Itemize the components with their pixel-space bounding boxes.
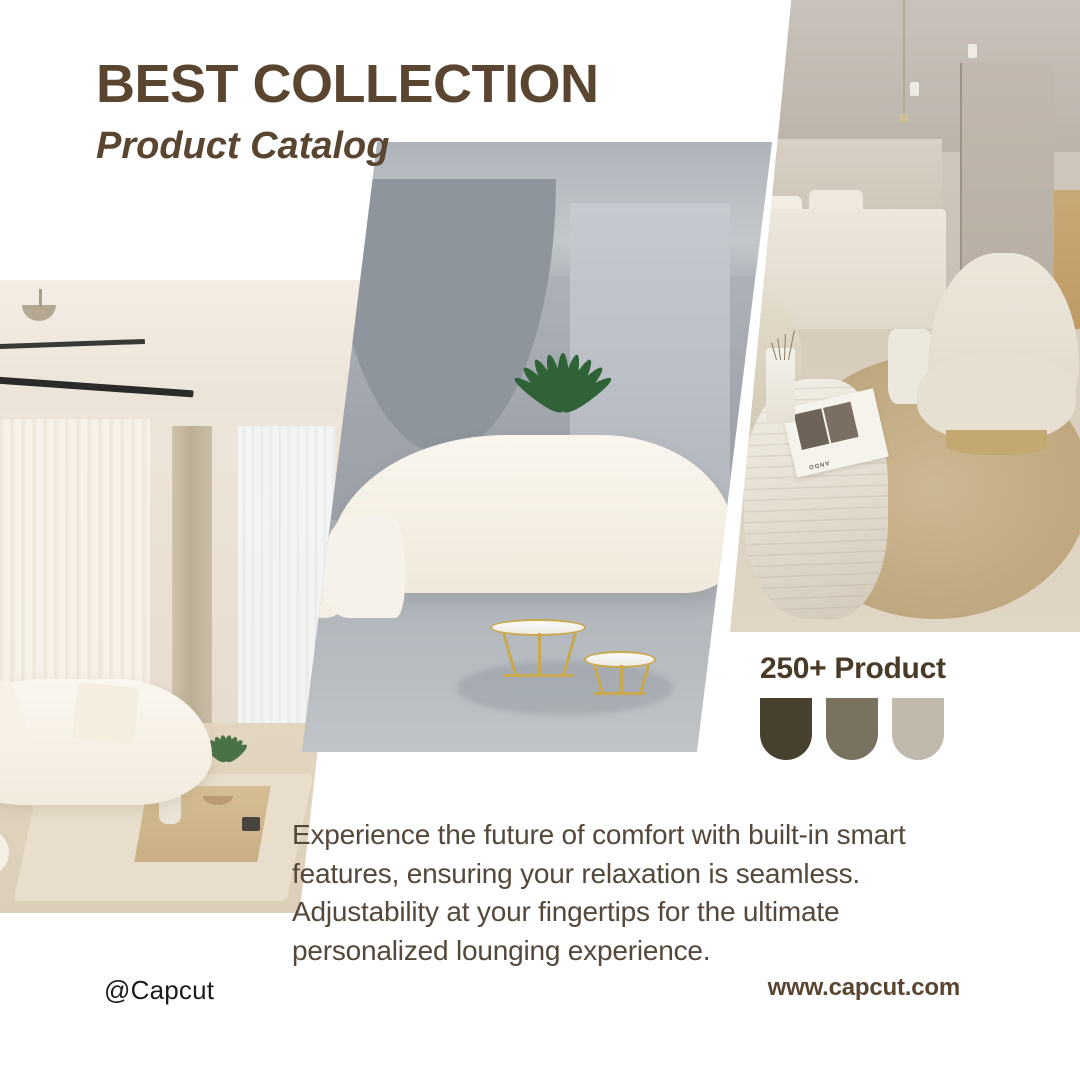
header: BEST COLLECTION Product Catalog [96, 56, 599, 168]
pendant-lamp-icon [903, 0, 905, 114]
website-url[interactable]: www.capcut.com [768, 974, 960, 1002]
color-swatch-warm-taupe[interactable] [826, 698, 878, 760]
product-count-label: 250+ Product [760, 652, 946, 686]
image-panel-bedroom: ANDO [730, 0, 1080, 632]
image-panel-studio-sofa [302, 142, 772, 752]
color-swatch-light-greige[interactable] [892, 698, 944, 760]
coffee-table-small [584, 651, 656, 697]
social-handle: @Capcut [104, 975, 214, 1006]
spot-light-icon [910, 82, 919, 96]
spot-light-icon [968, 44, 977, 58]
coffee-table-large [490, 619, 586, 679]
book-title: ANDO [807, 460, 829, 471]
ceiling [0, 280, 370, 426]
sofa-arm [321, 514, 406, 618]
cushion-right [72, 682, 139, 745]
small-pot [242, 817, 260, 831]
description-paragraph: Experience the future of comfort with bu… [292, 816, 964, 971]
page-subtitle: Product Catalog [96, 125, 599, 168]
strelitzia-plant [518, 301, 608, 411]
book-cover-grid [794, 402, 859, 450]
color-swatch-group [760, 698, 946, 760]
studio-scene [302, 142, 772, 752]
color-swatch-dark-olive-brown[interactable] [760, 698, 812, 760]
bedroom-scene: ANDO [730, 0, 1080, 632]
dried-stems [773, 259, 809, 360]
page-title: BEST COLLECTION [96, 56, 599, 113]
chair-base [946, 430, 1047, 455]
product-count-block: 250+ Product [760, 652, 946, 760]
